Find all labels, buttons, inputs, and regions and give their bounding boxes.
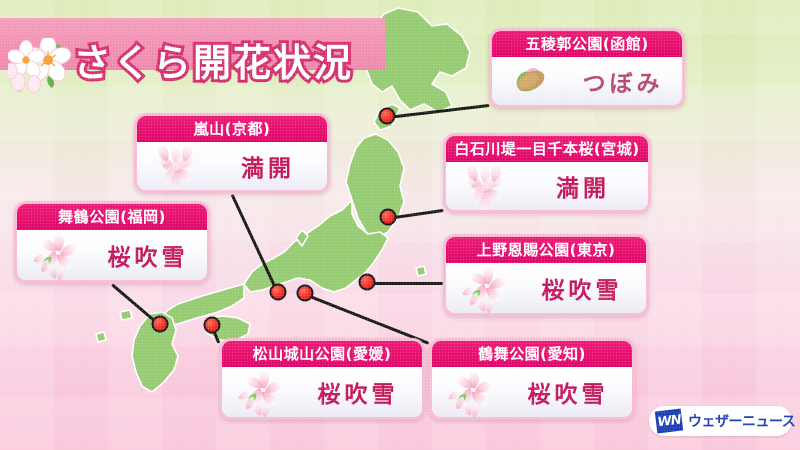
page-title: さくら開花状況 (73, 37, 353, 89)
card-title-aichi: 鶴舞公園(愛知) (432, 341, 632, 367)
wn-logo-mark: WN (655, 408, 683, 433)
brand-name: ウェザーニュース (688, 411, 795, 431)
card-status-fukuoka: 桜吹雪 (95, 238, 207, 272)
status-card-aichi[interactable]: 鶴舞公園(愛知) 桜吹雪 (429, 338, 635, 420)
card-title-miyagi: 白石川堤一目千本桜(宮城) (446, 136, 648, 162)
full-bloom-icon (446, 162, 524, 210)
status-card-tokyo[interactable]: 上野恩賜公園(東京) 桜吹雪 (443, 234, 649, 316)
weathernews-logo[interactable]: WN ウェザーニュース (649, 406, 792, 436)
card-body-kyoto: 満開 (137, 142, 327, 190)
petal-fall-icon (432, 367, 510, 417)
petal-fall-icon (432, 367, 510, 417)
map-marker-miyagi[interactable] (380, 209, 397, 226)
petal-fall-icon (446, 263, 524, 313)
card-title-fukuoka: 舞鶴公園(福岡) (17, 204, 207, 230)
status-card-kyoto[interactable]: 嵐山(京都) 満開 (134, 113, 330, 193)
card-body-ehime: 桜吹雪 (222, 367, 422, 417)
card-title-hakodate: 五稜郭公園(函館) (492, 31, 682, 57)
status-card-ehime[interactable]: 松山城山公園(愛媛) 桜吹雪 (219, 338, 425, 420)
card-body-miyagi: 満開 (446, 162, 648, 210)
card-body-tokyo: 桜吹雪 (446, 263, 646, 313)
map-marker-fukuoka[interactable] (152, 316, 169, 333)
card-title-tokyo: 上野恩賜公園(東京) (446, 237, 646, 263)
status-card-fukuoka[interactable]: 舞鶴公園(福岡) 桜吹雪 (14, 201, 210, 283)
card-title-kyoto: 嵐山(京都) (137, 116, 327, 142)
map-marker-kyoto[interactable] (270, 284, 287, 301)
card-status-ehime: 桜吹雪 (300, 375, 422, 409)
status-card-miyagi[interactable]: 白石川堤一目千本桜(宮城) 満開 (443, 133, 651, 213)
full-bloom-icon (137, 142, 215, 190)
title-banner: さくら開花状況 (0, 18, 385, 70)
card-status-aichi: 桜吹雪 (510, 375, 632, 409)
card-body-fukuoka: 桜吹雪 (17, 230, 207, 280)
petal-fall-icon (17, 230, 95, 280)
card-body-hakodate: つぼみ (492, 57, 682, 105)
petal-fall-icon (17, 230, 95, 280)
bud-icon (492, 57, 570, 105)
petal-fall-icon (222, 367, 300, 417)
full-bloom-icon (446, 162, 524, 210)
full-bloom-icon (137, 142, 215, 190)
card-status-hakodate: つぼみ (570, 64, 682, 98)
card-status-kyoto: 満開 (215, 149, 327, 183)
petal-fall-icon (222, 367, 300, 417)
sakura-status-map-screen: さくら開花状況 五稜郭公園(函館) つぼみ嵐山(京都) 満開白石川堤一目千本桜(… (0, 0, 800, 450)
petal-fall-icon (446, 263, 524, 313)
map-marker-hakodate[interactable] (379, 108, 396, 125)
card-status-miyagi: 満開 (524, 169, 648, 203)
card-status-tokyo: 桜吹雪 (524, 271, 646, 305)
card-title-ehime: 松山城山公園(愛媛) (222, 341, 422, 367)
map-marker-tokyo[interactable] (359, 274, 376, 291)
connector-tokyo (367, 282, 443, 285)
bud-icon (492, 57, 570, 105)
sakura-blossom-icon (8, 38, 80, 94)
map-marker-aichi[interactable] (297, 285, 314, 302)
card-body-aichi: 桜吹雪 (432, 367, 632, 417)
map-marker-ehime[interactable] (204, 317, 221, 334)
status-card-hakodate[interactable]: 五稜郭公園(函館) つぼみ (489, 28, 685, 108)
